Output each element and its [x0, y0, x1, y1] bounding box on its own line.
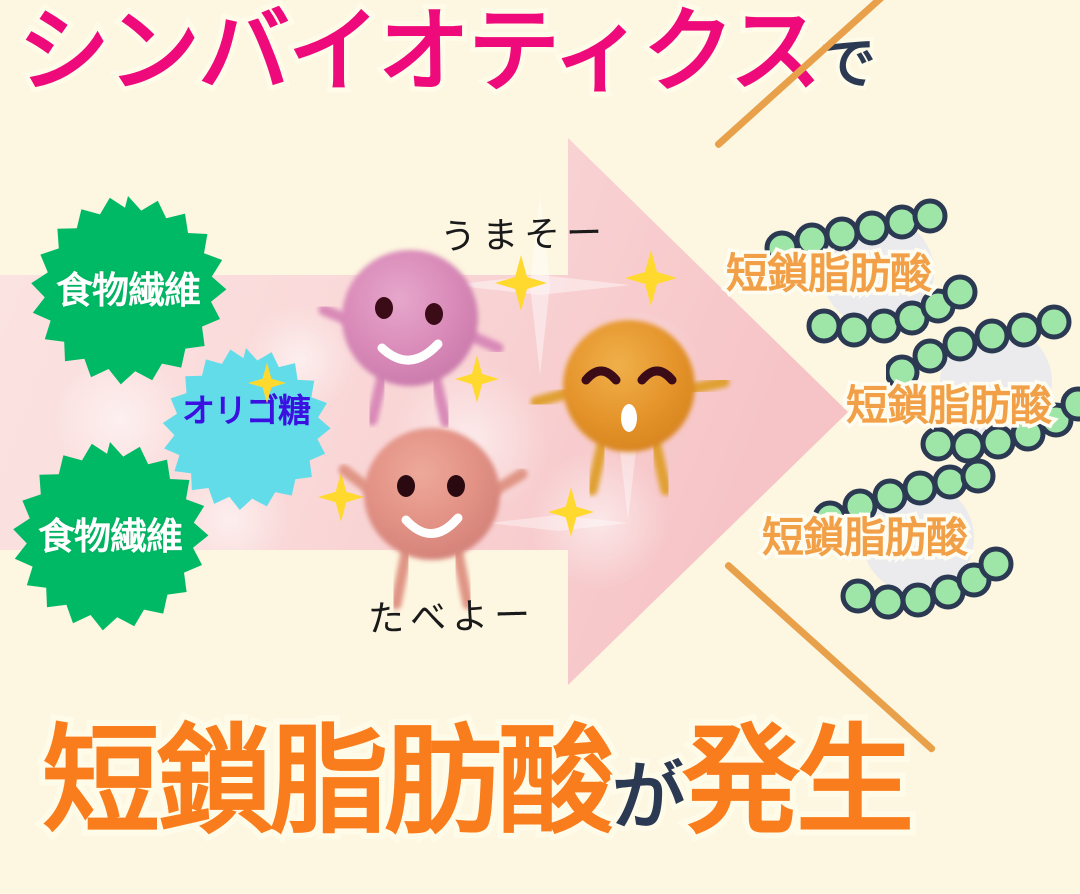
handwriting-note-tabeyo: たべよー — [367, 586, 536, 642]
badge-label: オリゴ糖 — [182, 394, 310, 429]
badge-label: 食物繊維 — [56, 272, 200, 311]
badge-label: 食物繊維 — [38, 518, 182, 557]
title-bottom-suffix: が — [612, 754, 682, 840]
title-top-main: シンバイオティクス — [18, 0, 820, 105]
sparkle-icon — [248, 362, 286, 409]
page-title-top: シンバイオティクスで — [18, 6, 874, 98]
scfa-label-1: 短鎖脂肪酸 — [726, 240, 931, 301]
title-bottom-tail: 発生 — [682, 712, 910, 850]
page-title-bottom: 短鎖脂肪酸が発生 — [42, 722, 910, 840]
title-bottom-main: 短鎖脂肪酸 — [42, 712, 612, 850]
scfa-label-3: 短鎖脂肪酸 — [762, 504, 967, 565]
pink-microbe-character — [310, 228, 540, 433]
orange-microbe-character — [528, 298, 748, 503]
badge-dietary-fiber-bottom: 食物繊維 — [10, 442, 210, 632]
scfa-label-2: 短鎖脂肪酸 — [846, 372, 1051, 433]
handwriting-note-umaso: うまそー — [439, 204, 608, 260]
infographic-canvas: うまそー たべよー 食物繊維 オリゴ糖 食物繊維 — [0, 0, 1080, 894]
